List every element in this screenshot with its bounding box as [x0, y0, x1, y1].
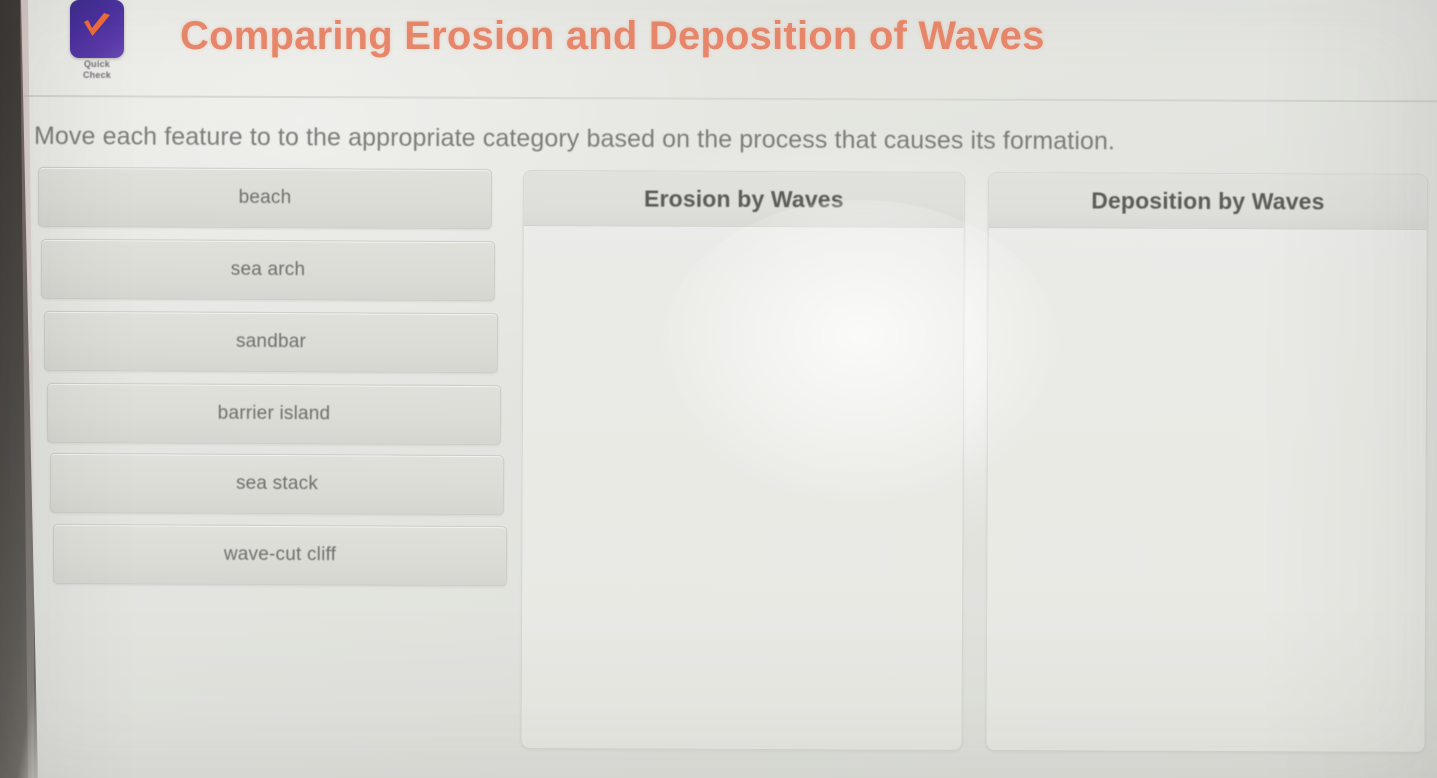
- feature-card-bank: beach sea arch sandbar barrier island se…: [34, 164, 504, 594]
- quick-check-logo: Quick Check: [62, 0, 132, 88]
- dropzone-header: Deposition by Waves: [989, 173, 1427, 230]
- feature-card[interactable]: sandbar: [44, 311, 498, 373]
- dropzone-drop-area[interactable]: [521, 226, 963, 750]
- feature-card-label: sea arch: [231, 259, 306, 281]
- feature-card[interactable]: beach: [38, 167, 492, 229]
- instruction-text: Move each feature to to the appropriate …: [34, 122, 1115, 156]
- dropzone-title: Deposition by Waves: [1091, 187, 1324, 215]
- feature-card-label: sea stack: [236, 473, 318, 495]
- dropzone-drop-area[interactable]: [986, 228, 1426, 752]
- dropzone-erosion-by-waves[interactable]: Erosion by Waves: [520, 170, 965, 751]
- feature-card[interactable]: wave-cut cliff: [53, 524, 507, 586]
- logo-badge: [70, 0, 124, 58]
- dropzone-title: Erosion by Waves: [644, 185, 844, 213]
- feature-card[interactable]: barrier island: [47, 383, 501, 445]
- feature-card[interactable]: sea arch: [41, 239, 495, 301]
- feature-card-label: beach: [239, 187, 292, 209]
- page-header: Quick Check Comparing Erosion and Deposi…: [44, 0, 1437, 96]
- dropzone-header: Erosion by Waves: [524, 171, 964, 228]
- page-title: Comparing Erosion and Deposition of Wave…: [180, 14, 1045, 59]
- checkmark-icon: [79, 9, 115, 45]
- logo-caption-line2: Check: [62, 70, 132, 81]
- feature-card-label: sandbar: [236, 331, 306, 353]
- dropzone-deposition-by-waves[interactable]: Deposition by Waves: [985, 172, 1428, 753]
- feature-card-label: wave-cut cliff: [224, 544, 336, 567]
- quick-check-activity-screen: Quick Check Comparing Erosion and Deposi…: [0, 0, 1437, 778]
- feature-card-label: barrier island: [218, 403, 331, 426]
- logo-caption: Quick Check: [62, 59, 132, 81]
- logo-caption-line1: Quick: [62, 59, 132, 70]
- feature-card[interactable]: sea stack: [50, 453, 504, 515]
